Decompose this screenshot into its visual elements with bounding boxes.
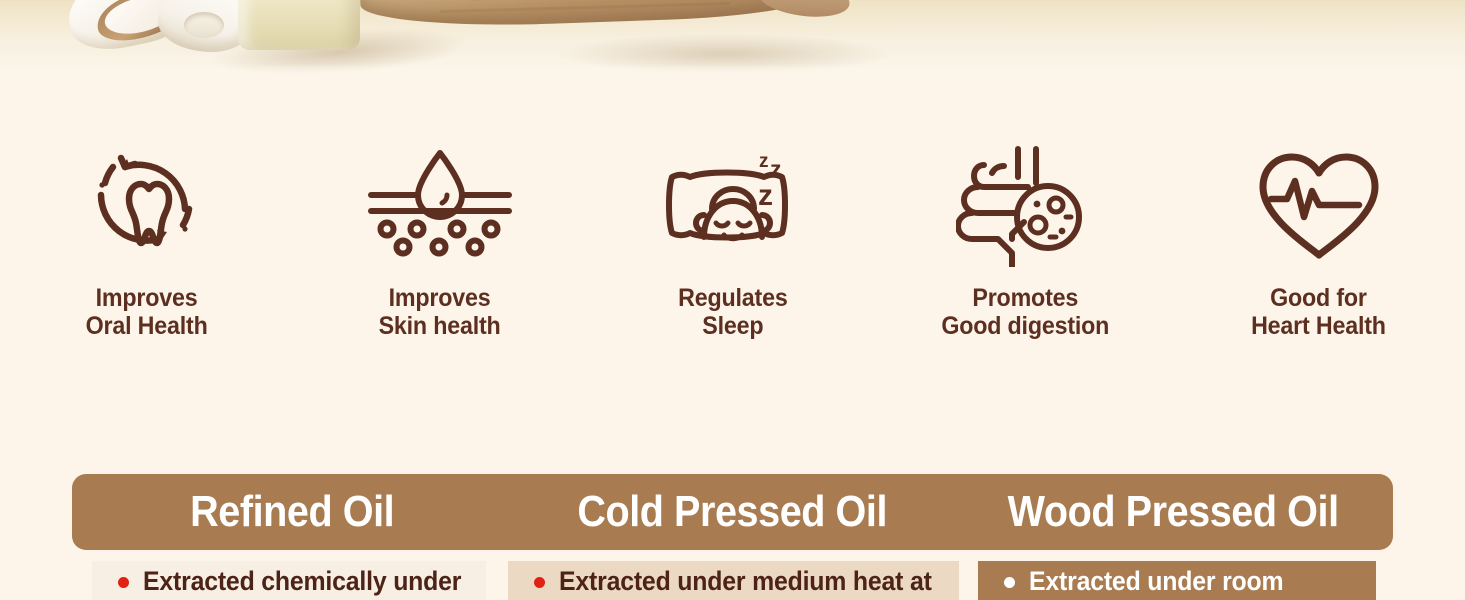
comparison-item-text: Extracted under medium heat at xyxy=(559,566,932,596)
oil-jar-icon xyxy=(238,0,360,50)
comparison-item-text: Extracted chemically under xyxy=(143,566,461,596)
comparison-header-refined-oil: Refined Oil xyxy=(94,487,490,537)
comparison-panel-wood-pressed-oil: Extracted under room xyxy=(978,561,1376,600)
intestines-probiotic-icon xyxy=(956,140,1096,270)
water-droplet-skin-icon xyxy=(365,140,515,270)
hero-bottom-fade xyxy=(0,64,1465,78)
benefit-item-oral-health: Improves Oral Health xyxy=(32,140,262,340)
bullet-icon xyxy=(1004,577,1015,588)
hero-product-photo xyxy=(0,0,1465,78)
driftwood-branch-tip-icon xyxy=(758,0,852,21)
benefit-label: Good for Heart Health xyxy=(1251,284,1386,340)
benefit-item-sleep: z z z Regulates Sleep xyxy=(618,140,848,340)
coconut-cavity-icon xyxy=(184,12,224,38)
tooth-refresh-icon xyxy=(85,140,209,270)
infographic-page: Improves Oral Health Improves xyxy=(0,0,1465,600)
benefit-label: Promotes Good digestion xyxy=(942,284,1110,340)
comparison-header-cold-pressed-oil: Cold Pressed Oil xyxy=(534,487,930,537)
comparison-content-row: Extracted chemically under Extracted und… xyxy=(0,561,1465,600)
comparison-panel-cold-pressed-oil: Extracted under medium heat at xyxy=(508,561,959,600)
benefit-item-digestion: Promotes Good digestion xyxy=(911,140,1141,340)
comparison-header-wood-pressed-oil: Wood Pressed Oil xyxy=(975,487,1371,537)
benefit-item-heart-health: Good for Heart Health xyxy=(1204,140,1434,340)
comparison-header-bar: Refined Oil Cold Pressed Oil Wood Presse… xyxy=(72,474,1393,550)
comparison-panel-refined-oil: Extracted chemically under xyxy=(92,561,486,600)
benefit-label: Regulates Sleep xyxy=(678,284,787,340)
heart-pulse-icon xyxy=(1249,140,1389,270)
svg-text:z: z xyxy=(759,151,769,172)
bullet-icon xyxy=(534,577,545,588)
benefit-label: Improves Oral Health xyxy=(85,284,207,340)
comparison-item-text: Extracted under room xyxy=(1029,566,1283,596)
benefit-label: Improves Skin health xyxy=(378,284,500,340)
benefits-row: Improves Oral Health Improves xyxy=(0,140,1465,390)
benefit-item-skin-health: Improves Skin health xyxy=(325,140,555,340)
sleeping-face-pillow-icon: z z z xyxy=(658,140,808,270)
svg-text:z: z xyxy=(758,179,773,212)
bullet-icon xyxy=(118,577,129,588)
